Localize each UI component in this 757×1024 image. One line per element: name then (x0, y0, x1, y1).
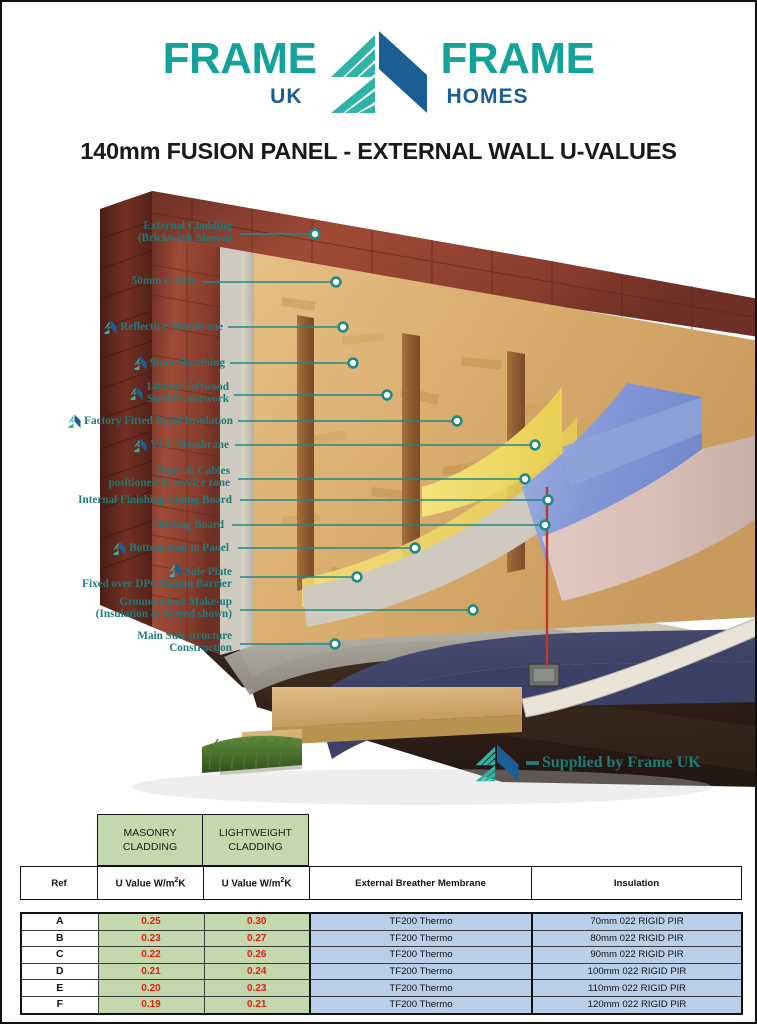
cell-ref: B (21, 930, 98, 947)
callout-line: Stud Framework (147, 393, 229, 405)
cladding-header-line2: CLADDING (123, 840, 177, 854)
callout-external-cladding[interactable]: External Cladding (Brickwork Shown) (138, 220, 232, 245)
u-value-table-header: Ref U Value W/m2K U Value W/m2K External… (20, 866, 742, 900)
frame-mark-icon (104, 320, 117, 335)
page-title: 140mm FUSION PANEL - EXTERNAL WALL U-VAL… (2, 138, 755, 165)
frame-mark-icon (68, 414, 81, 429)
frame-mark-icon (134, 356, 147, 371)
cell-ref: C (21, 947, 98, 964)
cell-ref: E (21, 980, 98, 997)
frame-logo-mark-icon (323, 29, 435, 115)
callout-line: Main Sub-structure (137, 630, 232, 642)
cladding-header-masonry: MASONRY CLADDING (97, 814, 203, 866)
callout-reflective-membrane[interactable]: Reflective Membrane (104, 320, 223, 335)
cell-membrane: TF200 Thermo (310, 930, 532, 947)
cell-membrane: TF200 Thermo (310, 913, 532, 930)
logo-word-right: FRAME (441, 37, 595, 81)
callout-sheathing[interactable]: 9mm Sheathing (134, 356, 225, 371)
cell-u-masonry: 0.25 (98, 913, 204, 930)
header-u-value-lightweight: U Value W/m2K (204, 867, 310, 900)
service-box-face (534, 669, 554, 681)
callout-stud-framework[interactable]: 140mm Softwood Stud Framework (130, 381, 229, 406)
cell-insulation: 100mm 022 RIGID PIR (532, 963, 742, 980)
brick-end-face (100, 191, 152, 627)
callout-ground-floor[interactable]: Ground Floor Make-up (Insulation & Scree… (96, 596, 232, 621)
reflective-membrane (242, 251, 254, 649)
cladding-header-line2: CLADDING (228, 840, 282, 854)
frame-mark-icon (130, 386, 143, 401)
callout-line: Skirting Board (152, 519, 224, 531)
brand-logo: FRAME UK FRAME HOMES (2, 28, 755, 116)
callout-line: Factory Fitted Rigid Insulation (84, 415, 233, 427)
cell-u-lightweight: 0.24 (204, 963, 310, 980)
callout-line: positioned in service zone (108, 477, 230, 489)
table-row[interactable]: B 0.23 0.27 TF200 Thermo 80mm 022 RIGID … (21, 930, 742, 947)
callout-lining-board[interactable]: Internal Finishing Lining Board (78, 494, 232, 506)
cell-u-masonry: 0.21 (98, 963, 204, 980)
cladding-header-line1: LIGHTWEIGHT (219, 826, 292, 840)
callout-substructure[interactable]: Main Sub-structure Construction (137, 630, 232, 655)
stud-1 (297, 315, 314, 591)
logo-word-left: FRAME (163, 37, 317, 81)
cell-membrane: TF200 Thermo (310, 980, 532, 997)
callout-line: 9mm Sheathing (150, 357, 225, 369)
frame-logo-mark-icon (472, 737, 522, 789)
u-value-table-body: A 0.25 0.30 TF200 Thermo 70mm 022 RIGID … (20, 912, 743, 1015)
callout-line: Fixed over DPC/Radon Barrier (82, 578, 232, 590)
callout-line: Construction (169, 642, 232, 654)
header-u-value-masonry: U Value W/m2K (98, 867, 204, 900)
callout-line: Ground Floor Make-up (119, 596, 232, 608)
cladding-header-line1: MASONRY (124, 826, 177, 840)
cell-u-lightweight: 0.21 (204, 996, 310, 1013)
header-ref: Ref (21, 867, 98, 900)
callout-bottom-rail[interactable]: Bottom Rail to Panel (113, 541, 229, 556)
supplied-by-label: Supplied by Frame UK (542, 754, 701, 772)
header-insulation: Insulation (532, 867, 742, 900)
cell-membrane: TF200 Thermo (310, 963, 532, 980)
callout-line: Reflective Membrane (120, 321, 223, 333)
callout-skirting-board[interactable]: Skirting Board (152, 519, 224, 531)
table-row[interactable]: D 0.21 0.24 TF200 Thermo 100mm 022 RIGID… (21, 963, 742, 980)
cell-u-lightweight: 0.26 (204, 947, 310, 964)
frame-mark-icon (169, 563, 182, 578)
callout-line: Sole Plate (185, 566, 232, 578)
cell-membrane: TF200 Thermo (310, 996, 532, 1013)
logo-left-text: FRAME UK (163, 37, 317, 107)
cell-membrane: TF200 Thermo (310, 947, 532, 964)
frame-mark-icon (134, 438, 147, 453)
cell-u-masonry: 0.19 (98, 996, 204, 1013)
callout-line: VCL Membrane (150, 439, 229, 451)
callout-sole-plate[interactable]: Sole Plate Fixed over DPC/Radon Barrier (82, 563, 232, 591)
table-row[interactable]: E 0.20 0.23 TF200 Thermo 110mm 022 RIGID… (21, 980, 742, 997)
callout-line: Bottom Rail to Panel (129, 542, 229, 554)
cell-insulation: 90mm 022 RIGID PIR (532, 947, 742, 964)
callout-line: Internal Finishing Lining Board (78, 494, 232, 506)
cell-u-lightweight: 0.23 (204, 980, 310, 997)
cell-u-lightweight: 0.30 (204, 913, 310, 930)
callout-line: (Insulation & Screed shown) (96, 608, 232, 620)
callout-line: External Cladding (143, 220, 232, 232)
cell-ref: F (21, 996, 98, 1013)
cell-ref: D (21, 963, 98, 980)
callout-line: Pipes & Cables (157, 465, 230, 477)
supplied-by-block: Supplied by Frame UK (472, 737, 701, 789)
callout-line: 140mm Softwood (146, 381, 229, 393)
callout-rigid-insulation[interactable]: Factory Fitted Rigid Insulation (68, 414, 233, 429)
frame-mark-icon (113, 541, 126, 556)
datasheet-page: FRAME UK FRAME HOMES 140mm FUSION PANEL … (0, 0, 757, 1024)
logo-sub-left: UK (270, 86, 302, 107)
table-row[interactable]: A 0.25 0.30 TF200 Thermo 70mm 022 RIGID … (21, 913, 742, 930)
table-row[interactable]: F 0.19 0.21 TF200 Thermo 120mm 022 RIGID… (21, 996, 742, 1013)
cladding-header-row: MASONRY CLADDING LIGHTWEIGHT CLADDING (97, 814, 309, 866)
cell-u-lightweight: 0.27 (204, 930, 310, 947)
cell-u-masonry: 0.23 (98, 930, 204, 947)
logo-right-text: FRAME HOMES (441, 37, 595, 107)
cell-u-masonry: 0.22 (98, 947, 204, 964)
callout-vcl-membrane[interactable]: VCL Membrane (134, 438, 229, 453)
cell-insulation: 80mm 022 RIGID PIR (532, 930, 742, 947)
supplied-dash (526, 761, 539, 765)
callout-line: 50mm Cavity (132, 275, 196, 287)
cell-insulation: 120mm 022 RIGID PIR (532, 996, 742, 1013)
table-header-row: Ref U Value W/m2K U Value W/m2K External… (21, 867, 742, 900)
table-row[interactable]: C 0.22 0.26 TF200 Thermo 90mm 022 RIGID … (21, 947, 742, 964)
cell-insulation: 70mm 022 RIGID PIR (532, 913, 742, 930)
cladding-header-lightweight: LIGHTWEIGHT CLADDING (203, 814, 309, 866)
header-breather-membrane: External Breather Membrane (310, 867, 532, 900)
callout-cavity[interactable]: 50mm Cavity (132, 275, 196, 287)
logo-sub-right: HOMES (447, 86, 529, 107)
cell-ref: A (21, 913, 98, 930)
cell-u-masonry: 0.20 (98, 980, 204, 997)
callout-pipes-cables[interactable]: Pipes & Cables positioned in service zon… (108, 465, 230, 490)
callout-line: (Brickwork Shown) (138, 232, 232, 244)
cell-insulation: 110mm 022 RIGID PIR (532, 980, 742, 997)
